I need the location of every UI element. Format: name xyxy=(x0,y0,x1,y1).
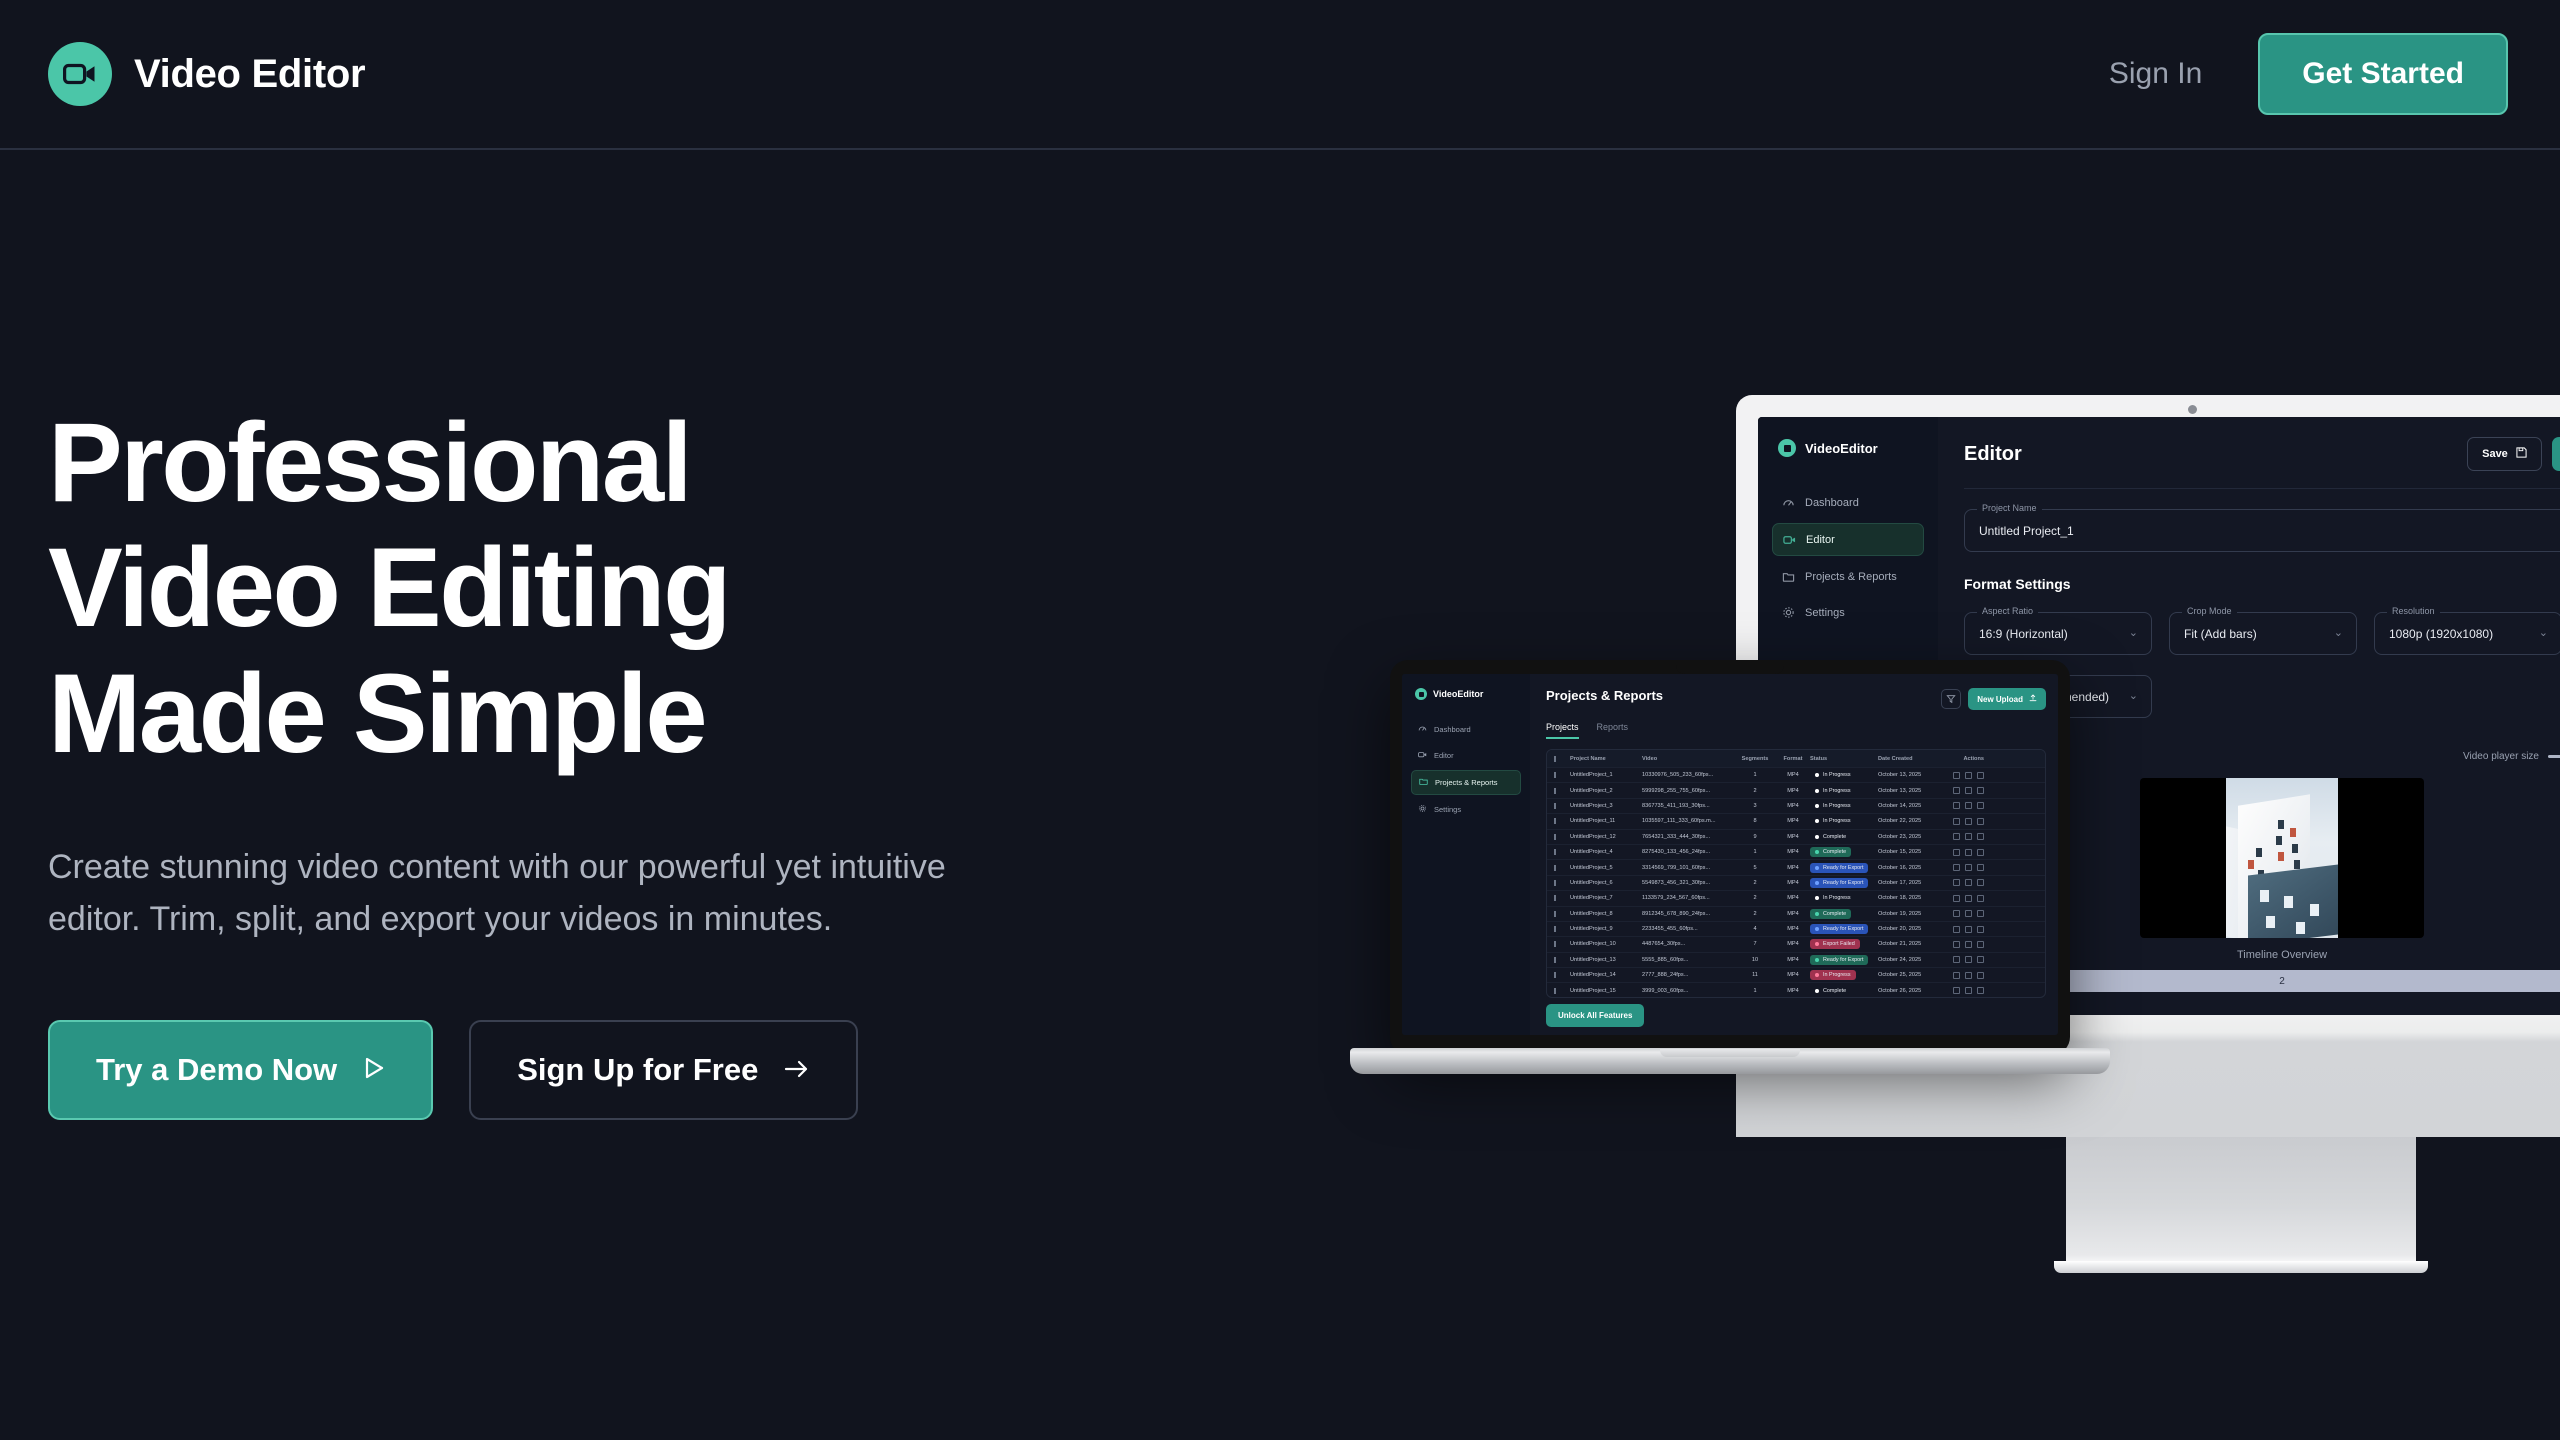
edit-icon[interactable] xyxy=(1953,879,1960,886)
trash-icon[interactable] xyxy=(1977,941,1984,948)
crop-mode-label: Crop Mode xyxy=(2182,606,2237,616)
status-badge: Export Failed xyxy=(1810,939,1860,949)
sidebar-item-dashboard[interactable]: Dashboard xyxy=(1411,718,1521,741)
cell-video: 5999298_255_755_60fps... xyxy=(1642,788,1734,794)
table-row[interactable]: UntitledProject_38367735_411_193_30fps..… xyxy=(1547,799,2045,814)
export-button[interactable]: Exp xyxy=(2552,437,2560,471)
cell-actions[interactable] xyxy=(1940,849,1984,856)
product-mockups: VideoEditor Dashboard Ed xyxy=(1350,395,2560,1245)
status-badge: Ready for Export xyxy=(1810,878,1868,888)
cell-video: 8367735_411_193_30fps... xyxy=(1642,803,1734,809)
row-checkbox[interactable] xyxy=(1554,818,1570,824)
cell-actions[interactable] xyxy=(1940,956,1984,963)
cell-status: In Progress xyxy=(1810,770,1878,780)
status-badge: Ready for Export xyxy=(1810,863,1868,873)
hero-cta-group: Try a Demo Now Sign Up for Free xyxy=(48,1020,1098,1120)
cell-video: 8275430_133_456_24fps... xyxy=(1642,849,1734,855)
video-camera-icon xyxy=(1418,750,1427,761)
cell-actions[interactable] xyxy=(1940,926,1984,933)
cell-segments: 11 xyxy=(1734,972,1776,978)
monitor-stand xyxy=(2066,1137,2416,1265)
column-date-created[interactable]: Date Created xyxy=(1878,756,1940,762)
status-badge: In Progress xyxy=(1810,786,1856,796)
aspect-ratio-label: Aspect Ratio xyxy=(1977,606,2038,616)
edit-icon[interactable] xyxy=(1953,818,1960,825)
status-badge: In Progress xyxy=(1810,893,1856,903)
cell-status: Ready for Export xyxy=(1810,955,1878,965)
cell-format: MP4 xyxy=(1776,788,1810,794)
cell-actions[interactable] xyxy=(1940,987,1984,994)
cell-project-name: UntitledProject_12 xyxy=(1570,834,1642,840)
new-upload-label: New Upload xyxy=(1977,695,2023,704)
cell-format: MP4 xyxy=(1776,803,1810,809)
video-camera-icon xyxy=(48,42,112,106)
sidebar-item-settings[interactable]: Settings xyxy=(1411,798,1521,821)
divider xyxy=(1964,488,2560,489)
cell-project-name: UntitledProject_3 xyxy=(1570,803,1642,809)
sidebar-label: Settings xyxy=(1805,607,1845,619)
edit-icon[interactable] xyxy=(1953,772,1960,779)
cell-video: 3999_003_60fps... xyxy=(1642,988,1734,994)
trash-icon[interactable] xyxy=(1977,926,1984,933)
sign-up-label: Sign Up for Free xyxy=(517,1052,758,1088)
status-badge: In Progress xyxy=(1810,770,1856,780)
row-checkbox[interactable] xyxy=(1554,926,1570,932)
table-header-row: Project Name Video Segments Format Statu… xyxy=(1547,750,2045,768)
cell-segments: 2 xyxy=(1734,788,1776,794)
row-checkbox[interactable] xyxy=(1554,834,1570,840)
cell-format: MP4 xyxy=(1776,865,1810,871)
status-badge: Ready for Export xyxy=(1810,955,1868,965)
play-triangle-icon xyxy=(363,1052,385,1088)
row-checkbox[interactable] xyxy=(1554,911,1570,917)
download-icon[interactable] xyxy=(1965,879,1972,886)
row-checkbox[interactable] xyxy=(1554,957,1570,963)
table-row[interactable]: UntitledProject_110330976_505_233_60fps.… xyxy=(1547,768,2045,783)
sidebar-item-editor[interactable]: Editor xyxy=(1411,744,1521,767)
resolution-label: Resolution xyxy=(2387,606,2440,616)
cell-actions[interactable] xyxy=(1940,787,1984,794)
sign-up-free-button[interactable]: Sign Up for Free xyxy=(469,1020,858,1120)
folder-icon xyxy=(1782,570,1795,583)
cell-actions[interactable] xyxy=(1940,833,1984,840)
cell-format: MP4 xyxy=(1776,941,1810,947)
column-segments[interactable]: Segments xyxy=(1734,756,1776,762)
cell-video: 8912345_678_890_24fps... xyxy=(1642,911,1734,917)
edit-icon[interactable] xyxy=(1953,895,1960,902)
cell-status: In Progress xyxy=(1810,786,1878,796)
table-row[interactable]: UntitledProject_153999_003_60fps...1MP4C… xyxy=(1547,983,2045,998)
cell-format: MP4 xyxy=(1776,849,1810,855)
new-upload-button[interactable]: New Upload xyxy=(1968,688,2046,710)
cell-project-name: UntitledProject_11 xyxy=(1570,818,1642,824)
monitor-camera-dot xyxy=(2188,405,2197,414)
try-demo-label: Try a Demo Now xyxy=(96,1052,337,1088)
download-icon[interactable] xyxy=(1965,787,1972,794)
edit-icon[interactable] xyxy=(1953,833,1960,840)
edit-icon[interactable] xyxy=(1953,972,1960,979)
resolution-select[interactable]: Resolution 1080p (1920x1080) ⌄ xyxy=(2374,612,2560,655)
cell-date-created: October 26, 2025 xyxy=(1878,988,1940,994)
cell-date-created: October 14, 2025 xyxy=(1878,803,1940,809)
cell-date-created: October 21, 2025 xyxy=(1878,941,1940,947)
gauge-icon xyxy=(1782,496,1795,509)
download-icon[interactable] xyxy=(1965,895,1972,902)
download-icon[interactable] xyxy=(1965,833,1972,840)
cell-actions[interactable] xyxy=(1940,818,1984,825)
upload-icon xyxy=(2029,694,2037,704)
download-icon[interactable] xyxy=(1965,941,1972,948)
sign-in-link[interactable]: Sign In xyxy=(2109,57,2202,91)
cell-format: MP4 xyxy=(1776,911,1810,917)
cell-actions[interactable] xyxy=(1940,772,1984,779)
cell-project-name: UntitledProject_1 xyxy=(1570,772,1642,778)
projects-footer: Unlock All Features xyxy=(1546,998,2046,1035)
row-checkbox[interactable] xyxy=(1554,895,1570,901)
row-checkbox[interactable] xyxy=(1554,849,1570,855)
projects-header: Projects & Reports New Upload xyxy=(1546,688,2046,710)
table-row[interactable]: UntitledProject_92233455_455_60fps...4MP… xyxy=(1547,922,2045,937)
cell-video: 3314569_799_101_60fps... xyxy=(1642,865,1734,871)
download-icon[interactable] xyxy=(1965,772,1972,779)
arrow-right-icon xyxy=(784,1052,810,1088)
format-fields-row: Aspect Ratio 16:9 (Horizontal) ⌄ Crop Mo… xyxy=(1964,592,2560,655)
column-status[interactable]: Status xyxy=(1810,756,1878,762)
cell-format: MP4 xyxy=(1776,972,1810,978)
cell-video: 7654321_333_444_30fps... xyxy=(1642,834,1734,840)
cell-video: 4487654_30fps... xyxy=(1642,941,1734,947)
edit-icon[interactable] xyxy=(1953,956,1960,963)
cell-actions[interactable] xyxy=(1940,910,1984,917)
cell-date-created: October 16, 2025 xyxy=(1878,865,1940,871)
video-camera-icon xyxy=(1783,533,1796,546)
edit-icon[interactable] xyxy=(1953,926,1960,933)
cell-date-created: October 25, 2025 xyxy=(1878,972,1940,978)
status-badge: Complete xyxy=(1810,847,1851,857)
crop-mode-value: Fit (Add bars) xyxy=(2184,627,2257,641)
video-camera-icon xyxy=(1415,688,1427,700)
trash-icon[interactable] xyxy=(1977,956,1984,963)
cell-date-created: October 17, 2025 xyxy=(1878,880,1940,886)
cell-project-name: UntitledProject_10 xyxy=(1570,941,1642,947)
gauge-icon xyxy=(1418,724,1427,735)
row-checkbox[interactable] xyxy=(1554,988,1570,994)
player-size-label: Video player size xyxy=(2463,751,2539,762)
cell-video: 2777_888_24fps... xyxy=(1642,972,1734,978)
brand-logo-group[interactable]: Video Editor xyxy=(48,42,365,106)
status-badge: Ready for Export xyxy=(1810,924,1868,934)
cell-segments: 8 xyxy=(1734,818,1776,824)
edit-icon[interactable] xyxy=(1953,987,1960,994)
laptop-lid: VideoEditor Dashboard Editor xyxy=(1390,660,2070,1055)
cell-segments: 5 xyxy=(1734,865,1776,871)
resolution-value: 1080p (1920x1080) xyxy=(2389,627,2493,641)
chevron-down-icon: ⌄ xyxy=(2539,626,2548,639)
cell-date-created: October 19, 2025 xyxy=(1878,911,1940,917)
cell-segments: 3 xyxy=(1734,803,1776,809)
cell-format: MP4 xyxy=(1776,988,1810,994)
cell-actions[interactable] xyxy=(1940,879,1984,886)
cell-video: 1133579_234_567_60fps... xyxy=(1642,895,1734,901)
table-row[interactable]: UntitledProject_25999298_255_755_60fps..… xyxy=(1547,783,2045,798)
cell-status: Complete xyxy=(1810,909,1878,919)
sidebar-item-dashboard[interactable]: Dashboard xyxy=(1772,487,1924,518)
edit-icon[interactable] xyxy=(1953,802,1960,809)
status-badge: In Progress xyxy=(1810,801,1856,811)
column-format[interactable]: Format xyxy=(1776,756,1810,762)
cell-date-created: October 24, 2025 xyxy=(1878,957,1940,963)
table-row[interactable]: UntitledProject_142777_888_24fps...11MP4… xyxy=(1547,968,2045,983)
cell-format: MP4 xyxy=(1776,772,1810,778)
projects-table: Project Name Video Segments Format Statu… xyxy=(1546,749,2046,998)
editor-topbar-actions: Save Exp xyxy=(2467,437,2560,471)
cell-status: In Progress xyxy=(1810,970,1878,980)
cell-project-name: UntitledProject_15 xyxy=(1570,988,1642,994)
status-badge: In Progress xyxy=(1810,816,1856,826)
cell-video: 2233455_455_60fps... xyxy=(1642,926,1734,932)
sidebar-item-editor[interactable]: Editor xyxy=(1772,523,1924,556)
download-icon[interactable] xyxy=(1965,972,1972,979)
row-checkbox[interactable] xyxy=(1554,865,1570,871)
cell-segments: 1 xyxy=(1734,849,1776,855)
cell-status: Complete xyxy=(1810,832,1878,842)
gear-icon xyxy=(1782,606,1795,619)
edit-icon[interactable] xyxy=(1953,910,1960,917)
trash-icon[interactable] xyxy=(1977,972,1984,979)
hero-subtitle: Create stunning video content with our p… xyxy=(48,842,1098,945)
cell-project-name: UntitledProject_6 xyxy=(1570,880,1642,886)
sidebar-label: Dashboard xyxy=(1434,725,1471,734)
download-icon[interactable] xyxy=(1965,802,1972,809)
table-body: UntitledProject_110330976_505_233_60fps.… xyxy=(1547,768,2045,998)
table-row[interactable]: UntitledProject_104487654_30fps...7MP4Ex… xyxy=(1547,937,2045,952)
cell-segments: 10 xyxy=(1734,957,1776,963)
cell-date-created: October 23, 2025 xyxy=(1878,834,1940,840)
video-camera-icon xyxy=(1778,439,1796,457)
cell-segments: 2 xyxy=(1734,880,1776,886)
trash-icon[interactable] xyxy=(1977,787,1984,794)
cell-status: In Progress xyxy=(1810,893,1878,903)
cell-date-created: October 13, 2025 xyxy=(1878,788,1940,794)
sidebar-label: Projects & Reports xyxy=(1435,778,1498,787)
save-button[interactable]: Save xyxy=(2467,437,2542,471)
cell-status: Ready for Export xyxy=(1810,878,1878,888)
sidebar-label: Settings xyxy=(1434,805,1461,814)
cell-date-created: October 13, 2025 xyxy=(1878,772,1940,778)
cell-project-name: UntitledProject_4 xyxy=(1570,849,1642,855)
sidebar-label: Dashboard xyxy=(1805,497,1859,509)
cell-status: Ready for Export xyxy=(1810,863,1878,873)
cell-video: 10330976_505_233_60fps... xyxy=(1642,772,1734,778)
cell-status: Complete xyxy=(1810,847,1878,857)
laptop-screen: VideoEditor Dashboard Editor xyxy=(1402,674,2058,1035)
project-name-label: Project Name xyxy=(1977,503,2042,513)
aspect-ratio-value: 16:9 (Horizontal) xyxy=(1979,627,2068,641)
cell-segments: 4 xyxy=(1734,926,1776,932)
trash-icon[interactable] xyxy=(1977,849,1984,856)
cell-video: 5555_885_60fps... xyxy=(1642,957,1734,963)
table-row[interactable]: UntitledProject_135555_885_60fps...10MP4… xyxy=(1547,953,2045,968)
cell-project-name: UntitledProject_8 xyxy=(1570,911,1642,917)
sidebar-label: Editor xyxy=(1434,751,1454,760)
download-icon[interactable] xyxy=(1965,956,1972,963)
edit-icon[interactable] xyxy=(1953,849,1960,856)
edit-icon[interactable] xyxy=(1953,864,1960,871)
format-settings-heading: Format Settings xyxy=(1964,576,2560,592)
sidebar-item-projects-reports[interactable]: Projects & Reports xyxy=(1411,770,1521,795)
table-row[interactable]: UntitledProject_71133579_234_567_60fps..… xyxy=(1547,891,2045,906)
crop-mode-select[interactable]: Crop Mode Fit (Add bars) ⌄ xyxy=(2169,612,2357,655)
chevron-down-icon: ⌄ xyxy=(2334,626,2343,639)
cell-project-name: UntitledProject_7 xyxy=(1570,895,1642,901)
trash-icon[interactable] xyxy=(1977,895,1984,902)
laptop-base-notch xyxy=(1660,1049,1800,1057)
cell-date-created: October 22, 2025 xyxy=(1878,818,1940,824)
select-all-checkbox[interactable] xyxy=(1554,756,1570,762)
table-row[interactable]: UntitledProject_53314569_799_101_60fps..… xyxy=(1547,860,2045,875)
try-demo-button[interactable]: Try a Demo Now xyxy=(48,1020,433,1120)
slider-track[interactable] xyxy=(2548,755,2560,758)
row-checkbox[interactable] xyxy=(1554,941,1570,947)
row-checkbox[interactable] xyxy=(1554,788,1570,794)
download-icon[interactable] xyxy=(1965,987,1972,994)
site-header: Video Editor Sign In Get Started xyxy=(0,0,2560,150)
projects-header-actions: New Upload xyxy=(1941,688,2046,710)
projects-sidebar: VideoEditor Dashboard Editor xyxy=(1402,674,1530,1035)
row-checkbox[interactable] xyxy=(1554,880,1570,886)
trash-icon[interactable] xyxy=(1977,864,1984,871)
save-label: Save xyxy=(2482,448,2508,460)
cell-actions[interactable] xyxy=(1940,941,1984,948)
table-row[interactable]: UntitledProject_111035597_111_333_60fps.… xyxy=(1547,814,2045,829)
funnel-icon[interactable] xyxy=(1941,689,1961,709)
download-icon[interactable] xyxy=(1965,818,1972,825)
column-actions: Actions xyxy=(1940,756,1984,762)
get-started-button[interactable]: Get Started xyxy=(2258,33,2508,115)
column-video[interactable]: Video xyxy=(1642,756,1734,762)
cell-format: MP4 xyxy=(1776,926,1810,932)
page-title: Professional Video Editing Made Simple xyxy=(48,400,1098,776)
trash-icon[interactable] xyxy=(1977,879,1984,886)
edit-icon[interactable] xyxy=(1953,941,1960,948)
unlock-all-features-button[interactable]: Unlock All Features xyxy=(1546,1004,1644,1027)
edit-icon[interactable] xyxy=(1953,787,1960,794)
cell-format: MP4 xyxy=(1776,957,1810,963)
aspect-ratio-select[interactable]: Aspect Ratio 16:9 (Horizontal) ⌄ xyxy=(1964,612,2152,655)
download-icon[interactable] xyxy=(1965,864,1972,871)
editor-page-title: Editor xyxy=(1964,443,2022,466)
chevron-down-icon: ⌄ xyxy=(2129,626,2138,639)
cell-date-created: October 15, 2025 xyxy=(1878,849,1940,855)
project-name-value: Untitled Project_1 xyxy=(1979,524,2074,538)
project-name-field[interactable]: Project Name Untitled Project_1 xyxy=(1964,509,2560,552)
tab-projects[interactable]: Projects xyxy=(1546,722,1579,739)
chevron-down-icon: ⌄ xyxy=(2129,689,2138,702)
projects-app: VideoEditor Dashboard Editor xyxy=(1402,674,2058,1035)
editor-app-brand: VideoEditor xyxy=(1772,439,1924,457)
trash-icon[interactable] xyxy=(1977,833,1984,840)
trash-icon[interactable] xyxy=(1977,818,1984,825)
projects-app-brand: VideoEditor xyxy=(1411,688,1521,700)
projects-page-title: Projects & Reports xyxy=(1546,688,1663,703)
cell-actions[interactable] xyxy=(1940,895,1984,902)
row-checkbox[interactable] xyxy=(1554,772,1570,778)
landing-page: Video Editor Sign In Get Started Profess… xyxy=(0,0,2560,1440)
sidebar-label: Editor xyxy=(1806,534,1835,546)
row-checkbox[interactable] xyxy=(1554,803,1570,809)
cell-project-name: UntitledProject_13 xyxy=(1570,957,1642,963)
sidebar-label: Projects & Reports xyxy=(1805,571,1897,583)
table-row[interactable]: UntitledProject_65549873_456_321_30fps..… xyxy=(1547,876,2045,891)
tab-reports[interactable]: Reports xyxy=(1597,722,1629,739)
cell-project-name: UntitledProject_2 xyxy=(1570,788,1642,794)
table-row[interactable]: UntitledProject_127654321_333_444_30fps.… xyxy=(1547,830,2045,845)
trash-icon[interactable] xyxy=(1977,910,1984,917)
cell-status: Complete xyxy=(1810,986,1878,996)
brand-name: Video Editor xyxy=(134,52,365,97)
editor-topbar: Editor Save Exp xyxy=(1964,437,2560,471)
cell-status: Export Failed xyxy=(1810,939,1878,949)
trash-icon[interactable] xyxy=(1977,802,1984,809)
preview-building-image xyxy=(2226,778,2338,938)
cell-video: 1035597_111_333_60fps.m... xyxy=(1642,818,1734,824)
download-icon[interactable] xyxy=(1965,849,1972,856)
sidebar-item-projects-reports[interactable]: Projects & Reports xyxy=(1772,561,1924,592)
cell-date-created: October 20, 2025 xyxy=(1878,926,1940,932)
hero-section: Professional Video Editing Made Simple C… xyxy=(48,400,1098,1120)
player-size-slider[interactable]: Video player size xyxy=(2463,751,2560,762)
trash-icon[interactable] xyxy=(1977,987,1984,994)
column-project-name[interactable]: Project Name xyxy=(1570,756,1642,762)
cell-date-created: October 18, 2025 xyxy=(1878,895,1940,901)
download-icon[interactable] xyxy=(1965,926,1972,933)
video-preview-stage xyxy=(2140,778,2424,938)
row-checkbox[interactable] xyxy=(1554,972,1570,978)
cell-actions[interactable] xyxy=(1940,802,1984,809)
sidebar-item-settings[interactable]: Settings xyxy=(1772,597,1924,628)
status-badge: In Progress xyxy=(1810,970,1856,980)
projects-app-brand-name: VideoEditor xyxy=(1433,689,1483,699)
cell-project-name: UntitledProject_14 xyxy=(1570,972,1642,978)
projects-main: Projects & Reports New Upload xyxy=(1530,674,2058,1035)
cell-segments: 1 xyxy=(1734,988,1776,994)
cell-format: MP4 xyxy=(1776,880,1810,886)
trash-icon[interactable] xyxy=(1977,772,1984,779)
status-badge: Complete xyxy=(1810,909,1851,919)
table-row[interactable]: UntitledProject_48275430_133_456_24fps..… xyxy=(1547,845,2045,860)
cell-project-name: UntitledProject_5 xyxy=(1570,865,1642,871)
cell-format: MP4 xyxy=(1776,834,1810,840)
gear-icon xyxy=(1418,804,1427,815)
projects-tabs: Projects Reports xyxy=(1546,722,2046,739)
cell-segments: 9 xyxy=(1734,834,1776,840)
cell-segments: 7 xyxy=(1734,941,1776,947)
cell-project-name: UntitledProject_9 xyxy=(1570,926,1642,932)
table-row[interactable]: UntitledProject_88912345_678_890_24fps..… xyxy=(1547,907,2045,922)
status-badge: Complete xyxy=(1810,832,1851,842)
status-badge: Complete xyxy=(1810,986,1851,996)
cell-actions[interactable] xyxy=(1940,864,1984,871)
cell-segments: 1 xyxy=(1734,772,1776,778)
cell-segments: 2 xyxy=(1734,911,1776,917)
cell-format: MP4 xyxy=(1776,818,1810,824)
download-icon[interactable] xyxy=(1965,910,1972,917)
cell-actions[interactable] xyxy=(1940,972,1984,979)
laptop-notch xyxy=(1676,660,1784,674)
cell-format: MP4 xyxy=(1776,895,1810,901)
cell-status: In Progress xyxy=(1810,801,1878,811)
header-actions: Sign In Get Started xyxy=(2109,33,2508,115)
